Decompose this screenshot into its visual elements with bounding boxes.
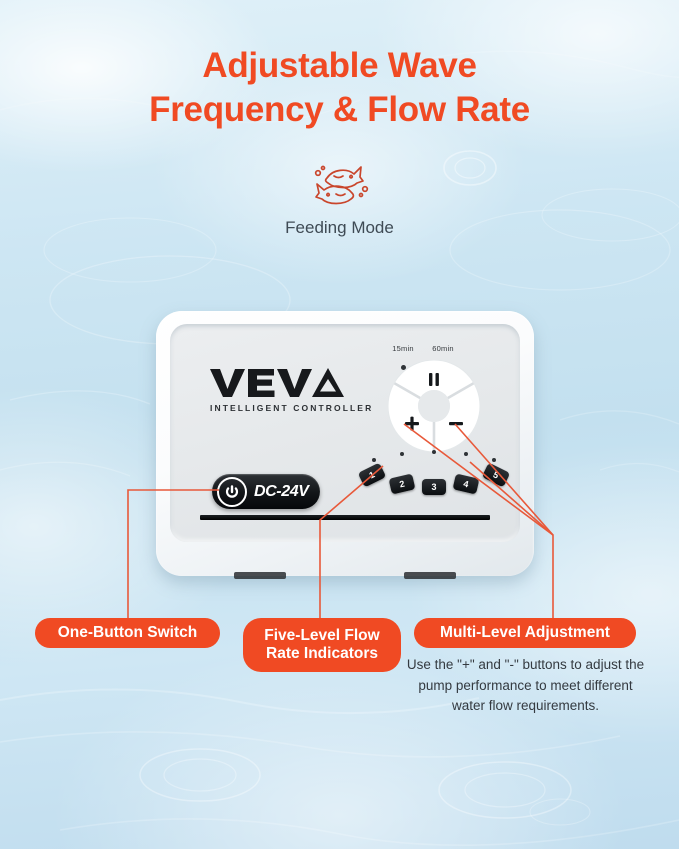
connector-plus-button [404,424,553,618]
callout-one-button-switch-label: One-Button Switch [58,624,198,642]
callout-connector-lines [0,0,679,849]
callout-multi-level-adjustment: Multi-Level Adjustment [414,618,636,648]
connector-level-five [470,462,553,535]
callout-five-level-flow-rate-indicators: Five-Level Flow Rate Indicators [243,618,401,672]
connector-one-button-switch [128,490,219,618]
callout-five-level-label-line-1: Five-Level Flow [264,627,379,644]
connector-five-level [320,466,383,618]
product-feature-image: Adjustable Wave Frequency & Flow Rate Fe… [0,0,679,849]
callout-multi-level-label: Multi-Level Adjustment [440,624,610,642]
callout-one-button-switch: One-Button Switch [35,618,220,648]
multi-level-adjustment-description: Use the "+" and "-" buttons to adjust th… [404,655,647,717]
callout-five-level-label-line-2: Rate Indicators [266,645,378,662]
connector-minus-button [455,424,553,535]
